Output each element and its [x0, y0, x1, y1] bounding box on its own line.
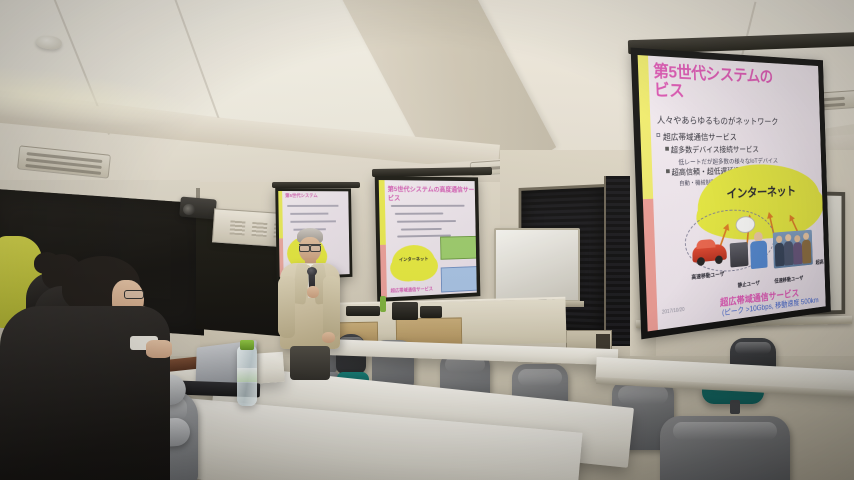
mid-green-callout — [440, 236, 478, 260]
presenter-arm-left — [278, 276, 295, 338]
slide-datestamp: 2017/10/20 — [662, 307, 685, 316]
label-stationary-user: 静止ユーザ — [738, 279, 760, 289]
glasses-icon — [124, 290, 144, 299]
water-bottle-cap — [240, 340, 254, 350]
equipment-box — [420, 306, 442, 318]
projector-lens-icon — [183, 204, 195, 215]
presenter-arm-right — [323, 276, 340, 338]
lecture-hall-photo: 第5世代システムの ビス 人々やあらゆるものがネットワーク 超広帯域通信サービス… — [0, 0, 854, 480]
equipment-box — [392, 302, 418, 320]
whiteboard-small — [494, 228, 580, 302]
ac-vent-left — [17, 145, 111, 178]
mid-slide-title-2: ビス — [388, 192, 401, 202]
slide-bullet-1: 超広帯域通信サービス — [663, 131, 737, 143]
label-low-speed-user: 低速移動ユーザ — [774, 274, 803, 284]
water-bottle-label — [237, 368, 257, 382]
slide-subtitle: 人々やあらゆるものがネットワーク — [657, 113, 819, 127]
presenter-speaker — [278, 228, 342, 378]
slide-title-line2: ビス — [654, 81, 818, 105]
mid-slide-title: 第5世代システムの高度通信サー — [387, 183, 474, 193]
label-right-partial: 超高 — [816, 258, 824, 266]
kiosk-illustration — [730, 242, 749, 268]
label-high-speed-user: 高速移動ユーザ — [691, 270, 724, 281]
slide-title: 第5世代システムの ビス — [653, 62, 818, 104]
presenter-lower-body — [290, 346, 330, 380]
presenter-hand-left — [307, 286, 319, 298]
car-illustration — [692, 244, 727, 263]
mid-blue-callout — [441, 266, 479, 292]
equipment-box — [346, 306, 380, 316]
green-bottle-icon — [380, 296, 386, 312]
crowd-illustration — [773, 230, 813, 269]
presenter-hand-right — [322, 332, 335, 343]
slide-bullet-2: 超多数デバイス接続サービス — [671, 144, 759, 155]
glasses-icon — [299, 244, 321, 250]
mid-slide-footer: 超広帯域通信サービス — [391, 286, 433, 294]
window-with-blinds-secondary — [604, 176, 632, 346]
primary-projection-screen: 第5世代システムの ビス 人々やあらゆるものがネットワーク 超広帯域通信サービス… — [631, 48, 831, 340]
left-slide-title: 第5世代システム — [285, 193, 318, 199]
slide-color-margin — [379, 180, 387, 298]
middle-projection-screen: 第5世代システムの高度通信サー ビス インターネット 超広帯域通信サービス — [375, 176, 481, 302]
